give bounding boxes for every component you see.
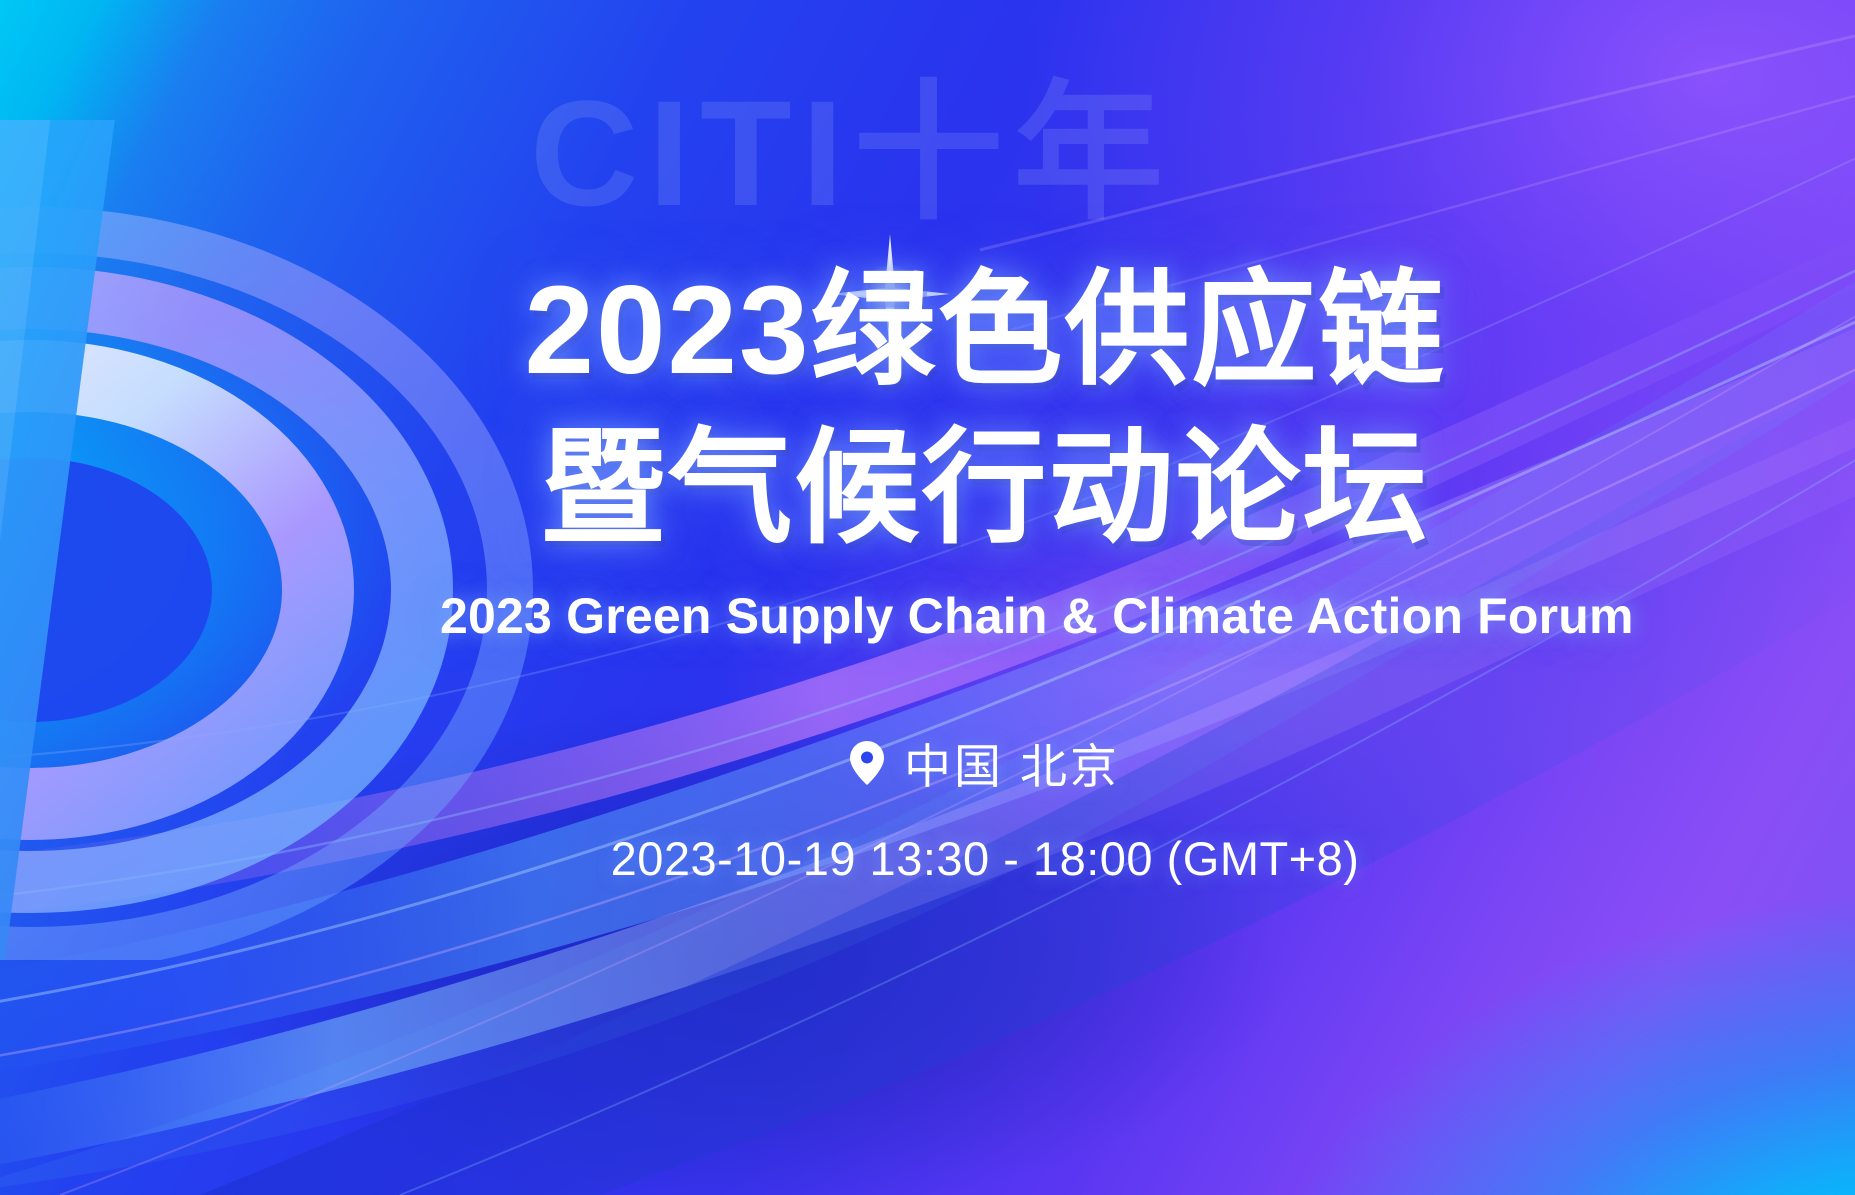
event-location: 中国 北京: [440, 728, 1530, 797]
event-meta: 中国 北京 2023-10-19 13:30 - 18:00 (GMT+8): [440, 728, 1530, 886]
watermark-text: CITI十年: [530, 78, 1173, 228]
event-location-text: 中国 北京: [904, 728, 1120, 797]
event-poster: CITI十年 2023绿色供应链 暨气候行动论坛 2023 Green Supp…: [0, 0, 1855, 1195]
title-line-1: 2023绿色供应链: [440, 252, 1530, 410]
location-pin-icon: [850, 741, 884, 785]
poster-title: 2023绿色供应链 暨气候行动论坛: [440, 252, 1530, 567]
poster-subtitle-english: 2023 Green Supply Chain & Climate Action…: [440, 587, 1530, 645]
title-line-2: 暨气候行动论坛: [440, 410, 1530, 568]
event-datetime: 2023-10-19 13:30 - 18:00 (GMT+8): [440, 831, 1530, 886]
